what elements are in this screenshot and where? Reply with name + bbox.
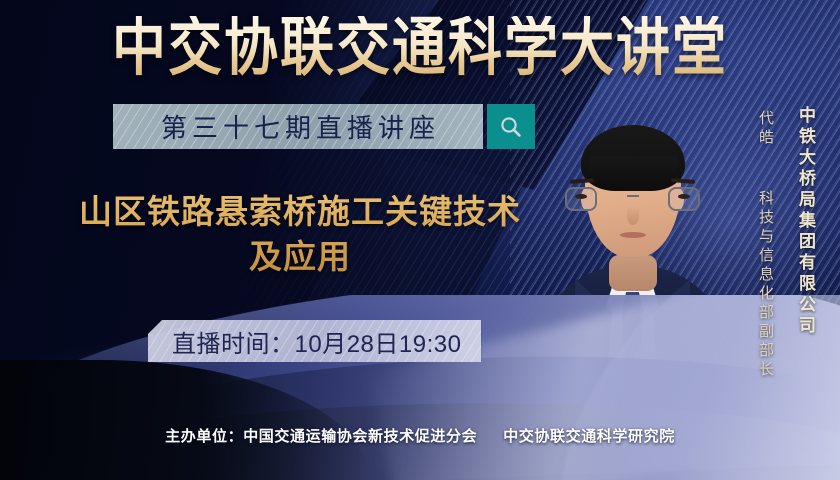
broadcast-time-badge: 直播时间：10月28日19:30 (148, 320, 481, 362)
lecture-title: 山区铁路悬索桥施工关键技术 及应用 (40, 190, 560, 280)
episode-banner: 第三十七期直播讲座 (113, 104, 483, 149)
lecture-title-line-2: 及应用 (40, 235, 560, 280)
speaker-hair (581, 125, 685, 191)
lecture-title-line-1: 山区铁路悬索桥施工关键技术 (40, 190, 560, 235)
speaker-nose (627, 207, 639, 225)
speaker-name-and-role: 代皓 科技与信息化部副部长 (755, 110, 776, 380)
speaker-glasses-bridge (627, 195, 639, 197)
speaker-eye-right (678, 194, 690, 199)
organizer-primary: 中国交通运输协会新技术促进分会 (243, 428, 477, 445)
speaker-neck (609, 255, 657, 291)
episode-label: 第三十七期直播讲座 (156, 108, 440, 145)
live-lecture-poster: 中交协联交通科学大讲堂 第三十七期直播讲座 山区铁路悬索桥施工关键技术 及应用 … (0, 0, 840, 480)
speaker-eye-left (575, 194, 587, 199)
speaker-glasses-right (668, 187, 700, 211)
speaker-organization: 中铁大桥局集团有限公司 (793, 106, 818, 337)
organizers-footer: 主办单位：中国交通运输协会新技术促进分会中交协联交通科学研究院 (0, 425, 840, 446)
organizer-secondary: 中交协联交通科学研究院 (503, 428, 675, 445)
broadcast-time-text: 直播时间：10月28日19:30 (172, 324, 461, 359)
search-icon (498, 114, 524, 140)
speaker-glasses-left (565, 187, 597, 211)
speaker-mouth (620, 232, 646, 238)
search-button[interactable] (487, 104, 535, 149)
organizer-label: 主办单位： (165, 428, 243, 445)
page-title: 中交协联交通科学大讲堂 (0, 16, 840, 80)
